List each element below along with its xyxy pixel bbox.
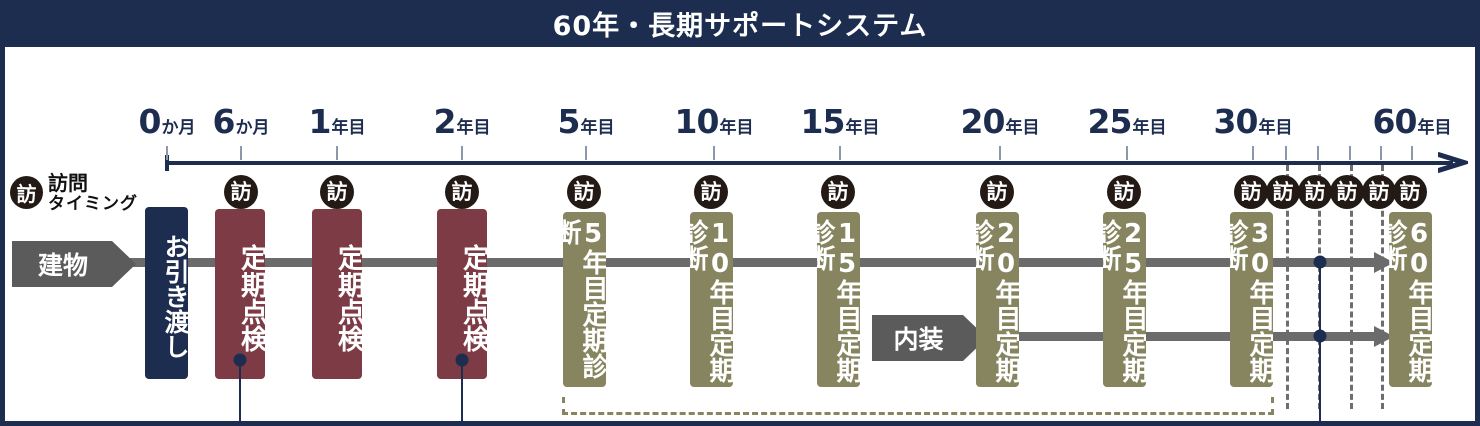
column-25year[interactable]: 25年目定期診断 <box>1103 212 1146 387</box>
column-15year[interactable]: 15年目定期診断 <box>817 212 860 387</box>
after30-leader-lower <box>1319 336 1321 422</box>
axis-label-number: 1 <box>309 102 331 141</box>
column-10year[interactable]: 10年目定期診断 <box>690 212 733 387</box>
visit-badge: 訪 <box>320 175 354 209</box>
axis-tick <box>713 146 715 160</box>
visit-badge: 訪 <box>1362 175 1396 209</box>
visit-badge-icon: 訪 <box>10 176 43 209</box>
visit-badge: 訪 <box>445 175 479 209</box>
axis-tick <box>839 146 841 160</box>
column-5year[interactable]: 5年目定期診断 <box>563 212 606 387</box>
after30-leader-upper-dot <box>1314 256 1327 269</box>
visit-badge: 訪 <box>1298 175 1332 209</box>
axis-label-60: 60年目 <box>1373 105 1452 138</box>
visit-timing-label: 訪問 タイミング <box>48 173 138 213</box>
axis-label-number: 0 <box>139 102 161 141</box>
axis-label-unit: 年目 <box>719 118 753 138</box>
column-handover[interactable]: お引き渡し <box>145 207 188 379</box>
axis-label-0: 0か月 <box>139 105 196 138</box>
axis-tick <box>1317 146 1319 160</box>
diagram-canvas: 訪 訪問 タイミング 0か月6か月1年目2年目5年目10年目15年目20年目25… <box>0 47 1480 426</box>
axis-label-unit: 年目 <box>1417 118 1451 138</box>
axis-label-number: 30 <box>1214 102 1258 141</box>
axis-label-5: 5年目 <box>558 105 615 138</box>
axis-label-unit: 年目 <box>331 118 365 138</box>
axis-tick <box>1411 146 1413 160</box>
axis-label-number: 5 <box>558 102 580 141</box>
visit-badge: 訪 <box>1234 175 1268 209</box>
axis-label-15: 15年目 <box>801 105 880 138</box>
after30-leader-lower-dot <box>1314 330 1327 343</box>
axis-tick <box>461 146 463 160</box>
axis-label-number: 2 <box>434 102 456 141</box>
axis-tick <box>1285 146 1287 160</box>
axis-label-number: 6 <box>213 102 235 141</box>
axis-label-6: 6か月 <box>213 105 270 138</box>
visit-timing-legend: 訪 訪問 タイミング <box>10 173 138 213</box>
column-20year[interactable]: 20年目定期診断 <box>976 212 1019 387</box>
axis-label-number: 60 <box>1373 102 1417 141</box>
6month-leader-dot <box>234 354 247 367</box>
column-30year[interactable]: 30年目定期診断 <box>1230 212 1273 387</box>
axis-arrow-icon <box>1438 147 1468 179</box>
axis-label-number: 25 <box>1088 102 1132 141</box>
axis-tick <box>1126 146 1128 160</box>
visit-badge: 訪 <box>1393 175 1427 209</box>
axis-tick <box>1252 146 1254 160</box>
axis-label-25: 25年目 <box>1088 105 1167 138</box>
column-60year[interactable]: 60年目定期診断 <box>1389 212 1432 387</box>
anno-6month: 6ヶ月定期点検 <box>156 421 323 426</box>
axis-tick <box>999 146 1001 160</box>
axis-label-number: 10 <box>675 102 719 141</box>
axis-label-1: 1年目 <box>309 105 366 138</box>
column-1year[interactable]: 定期点検 <box>312 209 362 379</box>
visit-badge: 訪 <box>980 175 1014 209</box>
visit-badge: 訪 <box>224 175 258 209</box>
category-tag-建物: 建物 <box>12 241 136 287</box>
6month-leader <box>239 360 241 422</box>
axis-line <box>165 161 1453 165</box>
visit-badge: 訪 <box>1107 175 1141 209</box>
axis-label-unit: 年目 <box>1005 118 1039 138</box>
page-title: 60年・長期サポートシステム <box>553 4 928 43</box>
header-bar: 60年・長期サポートシステム <box>0 0 1480 47</box>
anno-5yearly: 5年ごとの定期診断 <box>773 421 990 426</box>
legend-line-1: 訪問 <box>48 173 138 195</box>
axis-tick <box>336 146 338 160</box>
anno-after30: 以降5年ごとに定期診断を実施 <box>1067 421 1409 426</box>
axis-tick <box>1380 146 1382 160</box>
axis-label-2: 2年目 <box>434 105 491 138</box>
anno-2year: 2年目定期点検 <box>378 421 545 426</box>
visit-badge: 訪 <box>821 175 855 209</box>
axis-label-unit: 年目 <box>1258 118 1292 138</box>
visit-badge: 訪 <box>1330 175 1364 209</box>
axis-label-unit: 年目 <box>1132 118 1166 138</box>
category-tag-内装: 内装 <box>872 315 987 361</box>
axis-label-10: 10年目 <box>675 105 754 138</box>
axis-label-unit: 年目 <box>580 118 614 138</box>
axis-label-20: 20年目 <box>961 105 1040 138</box>
axis-label-number: 20 <box>961 102 1005 141</box>
timeline-diagram: 60年・長期サポートシステム 訪 訪問 タイミング 0か月6か月1年目2年目5年… <box>0 0 1480 426</box>
2year-leader <box>461 360 463 422</box>
axis-label-number: 15 <box>801 102 845 141</box>
axis-label-unit: 年目 <box>845 118 879 138</box>
visit-badge: 訪 <box>1266 175 1300 209</box>
five-year-bracket <box>562 397 1274 415</box>
axis-label-unit: か月 <box>161 118 195 138</box>
axis-label-unit: 年目 <box>456 118 490 138</box>
visit-badge: 訪 <box>567 175 601 209</box>
axis-tick <box>166 146 168 160</box>
legend-line-2: タイミング <box>48 195 138 213</box>
2year-leader-dot <box>456 354 469 367</box>
axis-tick <box>1349 146 1351 160</box>
visit-badge: 訪 <box>694 175 728 209</box>
axis-label-unit: か月 <box>235 118 269 138</box>
axis-tick <box>240 146 242 160</box>
axis-tick <box>585 146 587 160</box>
axis-label-30: 30年目 <box>1214 105 1293 138</box>
